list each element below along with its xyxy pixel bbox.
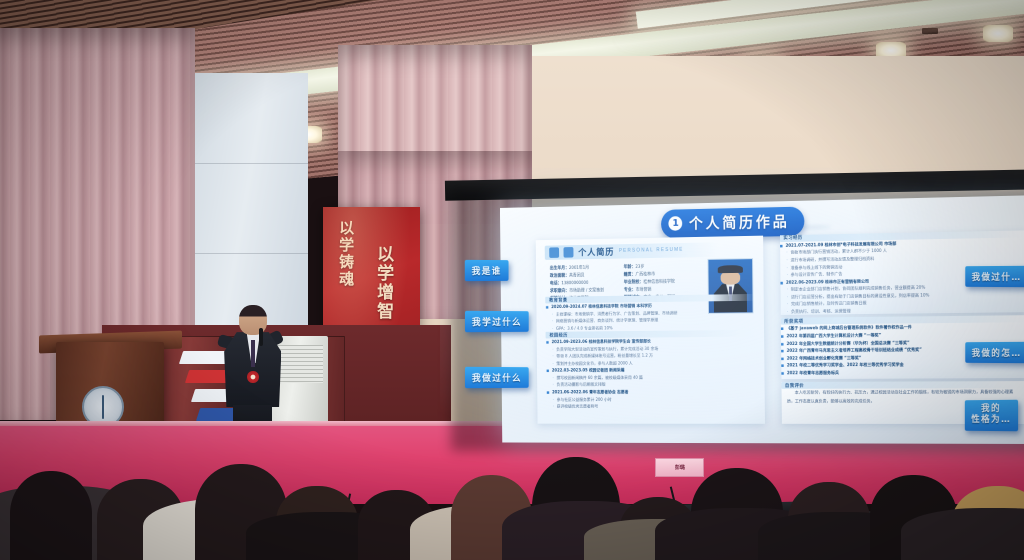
resume-field-left-label: 求职意向： [550, 289, 569, 294]
section-title: 所获奖项 [784, 318, 803, 324]
section-entry-detail: 负责活动摄影与后期图文排版 [546, 380, 755, 388]
resume-field-right-value: 广西桂林市 [635, 272, 655, 277]
audience-shoulders [143, 499, 317, 560]
resume-section: 校园经历2021.09-2023.06 桂林信息科技学院学生会 宣传部部长负责学… [546, 330, 756, 410]
resume-field-left-value: 市场助理 / 文案策划 [569, 288, 604, 293]
nav-button-what-i-did-right[interactable]: 我做过什… [965, 266, 1024, 287]
banner-line-1: 以学铸魂 [336, 220, 357, 288]
resume-card: 个人简历 PERSONAL RESUME 出生年月：2001年1月政治面貌：共青… [536, 235, 765, 424]
lecture-hall-photo: 以学铸魂 以学增智 1 个人简历作品 [0, 0, 1024, 560]
nav-button-line: 我的 [981, 404, 1001, 415]
audience-desk [840, 508, 1024, 528]
speaker-badge [247, 371, 258, 383]
resume-field-right-label: 籍贯： [624, 273, 636, 278]
resume-field-left-row: 求职意向：市场助理 / 文案策划 [550, 287, 604, 295]
resume-field-right-label: 专业： [624, 288, 636, 293]
audience-shoulders [655, 508, 829, 560]
resume-heading-en: PERSONAL RESUME [619, 247, 684, 254]
projection-screen: 1 个人简历作品 个人简历 PERSONAL RESUME 出生年月：2001年… [500, 195, 1024, 444]
microphone [259, 328, 264, 345]
resume-field-right-value: 市场营销 [635, 287, 651, 292]
resume-section: 教育背景2020.09-2024.07 桂林信息科技学院 市场营销 本科学历主修… [545, 294, 754, 332]
section-title: 实习经历 [783, 235, 802, 241]
resume-field-right-row: 毕业院校：桂林信息科技学院 [624, 279, 675, 287]
banner-line-2: 以学增智 [371, 245, 396, 321]
resume-field-left-value: 13800000000 [561, 281, 588, 286]
audience-shoulders [246, 512, 410, 560]
speaker-presenter [220, 305, 287, 439]
nav-button-what-i-did[interactable]: 我做过什么 [465, 367, 528, 388]
audience-shoulders [502, 501, 666, 560]
resume-field-right-label: 年龄： [624, 265, 636, 270]
nav-button-who-am-i[interactable]: 我是谁 [465, 260, 508, 281]
resume-glyph-icon [564, 247, 574, 258]
resume-glyph-icon [549, 247, 559, 258]
section-entry-detail: 策划并主办校园文化节，参与人数超 2000 人 [546, 358, 755, 367]
audience-shoulders [901, 508, 1024, 560]
section-title: 自我评价 [785, 383, 804, 389]
section-entry-detail: 获评校级优秀志愿者称号 [547, 402, 756, 410]
resume-card-header: 个人简历 PERSONAL RESUME [545, 242, 717, 260]
speaker-tie [251, 340, 254, 367]
audience-shoulders [410, 505, 564, 560]
ceiling-vent [922, 28, 938, 34]
resume-field-left-value: 共青团员 [569, 273, 584, 278]
audience-shoulders [584, 519, 738, 560]
slide-title-text: 个人简历作品 [689, 211, 790, 233]
section-entry-heading: 2022 年校青年志愿服务标兵 [781, 368, 1024, 377]
resume-heading-cn: 个人简历 [578, 245, 614, 258]
slide-title-number: 1 [669, 216, 683, 231]
resume-field-left-label: 政治面貌： [550, 274, 569, 279]
resume-right-column: 实习经历2021.07-2021.09 桂林市创*电子科技发展有限公司 市场部协… [780, 230, 1024, 424]
resume-field-right-value: 桂林信息科技学院 [643, 280, 675, 285]
audience-shoulders [758, 512, 922, 560]
presentation-slide: 1 个人简历作品 个人简历 PERSONAL RESUME 出生年月：2001年… [500, 195, 1024, 444]
resume-field-left-label: 电话： [550, 281, 562, 286]
nav-button-my-personality[interactable]: 我的性格为… [964, 400, 1017, 431]
section-title: 校园经历 [549, 332, 567, 338]
section-title: 教育背景 [549, 297, 567, 303]
resume-field-left-value: 2001年1月 [569, 266, 589, 271]
audience-head [620, 497, 697, 560]
resume-field-left-label: 出生年月： [550, 266, 569, 271]
nav-button-how-i-did[interactable]: 我做的怎… [965, 341, 1024, 362]
resume-field-right-label: 毕业院校： [624, 280, 644, 285]
nav-button-what-i-studied[interactable]: 我学过什么 [465, 311, 528, 332]
resume-field-right-value: 23岁 [635, 265, 644, 270]
nav-button-line: 性格为… [971, 416, 1011, 427]
ceiling-downlight [983, 25, 1013, 42]
slide-title-badge: 1 个人简历作品 [661, 207, 805, 239]
